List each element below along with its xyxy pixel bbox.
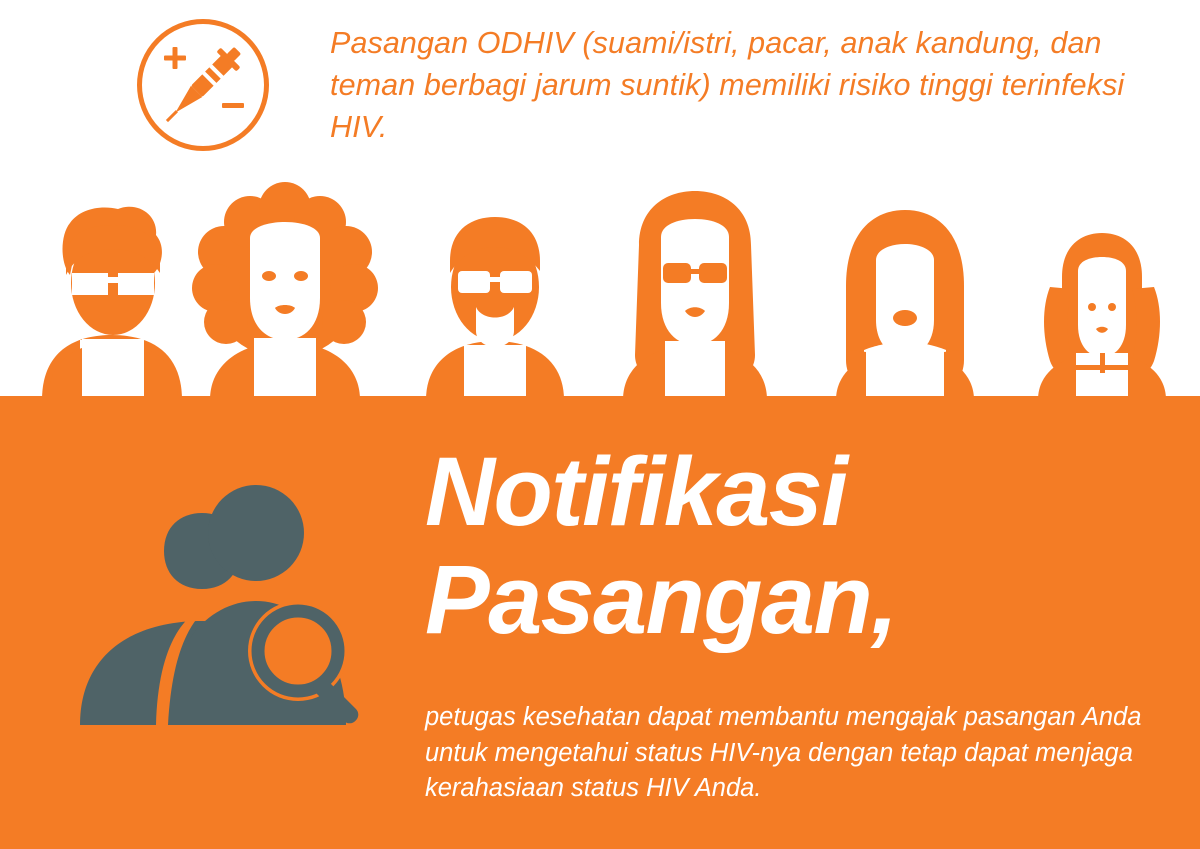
headline-line-2: Pasangan, <box>425 546 1185 654</box>
avatar-woman-hijab <box>820 200 990 400</box>
headline-line-1: Notifikasi <box>425 437 847 546</box>
avatar-man-beard-glasses <box>410 195 580 400</box>
page-title: Notifikasi Pasangan, <box>425 438 1185 654</box>
header-section: Pasangan ODHIV (suami/istri, pacar, anak… <box>0 0 1200 170</box>
infographic-poster: Pasangan ODHIV (suami/istri, pacar, anak… <box>0 0 1200 849</box>
avatar-row <box>0 170 1200 400</box>
avatar-girl-braids <box>1020 215 1185 400</box>
avatar-woman-long-hair-glasses <box>605 185 785 400</box>
syringe-plus-minus-icon <box>137 19 269 151</box>
couple-with-magnifier-icon <box>60 455 390 725</box>
header-warning-text: Pasangan ODHIV (suami/istri, pacar, anak… <box>330 22 1160 148</box>
body-description-text: petugas kesehatan dapat membantu mengaja… <box>425 700 1155 807</box>
avatar-woman-curly-hair <box>190 180 380 400</box>
avatar-man-curly-sunglasses <box>30 195 195 400</box>
